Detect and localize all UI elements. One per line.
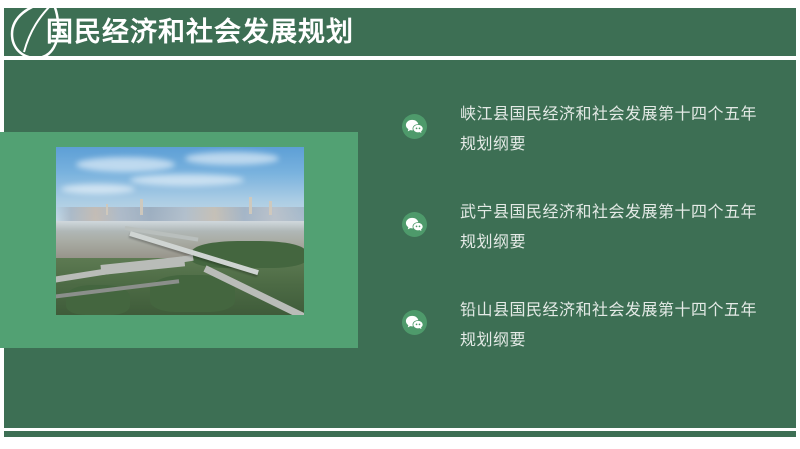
list-item-label: 武宁县国民经济和社会发展第十四个五年规划纲要	[460, 198, 768, 258]
page-title: 国民经济和社会发展规划	[46, 8, 354, 56]
list-item-label: 铅山县国民经济和社会发展第十四个五年规划纲要	[460, 296, 768, 356]
list-item[interactable]: 武宁县国民经济和社会发展第十四个五年规划纲要	[398, 198, 768, 258]
photo-tower	[249, 197, 252, 214]
photo-cloud	[130, 174, 244, 186]
footer-strip	[4, 431, 796, 437]
photo-cloud	[61, 184, 135, 194]
slide-header: 国民经济和社会发展规划	[4, 8, 796, 56]
chat-bubble-icon	[402, 114, 427, 139]
list-item-label: 峡江县国民经济和社会发展第十四个五年规划纲要	[460, 100, 768, 160]
photo-tower	[106, 204, 108, 215]
list-item[interactable]: 铅山县国民经济和社会发展第十四个五年规划纲要	[398, 296, 768, 356]
photo-tower	[140, 199, 143, 215]
photo-water-reflection	[56, 221, 304, 231]
slide-canvas: 国民经济和社会发展规划	[0, 0, 800, 449]
list-item[interactable]: 峡江县国民经济和社会发展第十四个五年规划纲要	[398, 100, 768, 160]
chat-bubble-icon	[402, 212, 427, 237]
photo-tower	[269, 201, 272, 215]
document-list: 峡江县国民经济和社会发展第十四个五年规划纲要 武宁县国民经济和社会发展第十四个五…	[398, 100, 768, 394]
aerial-bridge-photo	[56, 147, 304, 315]
chat-bubble-icon	[402, 310, 427, 335]
